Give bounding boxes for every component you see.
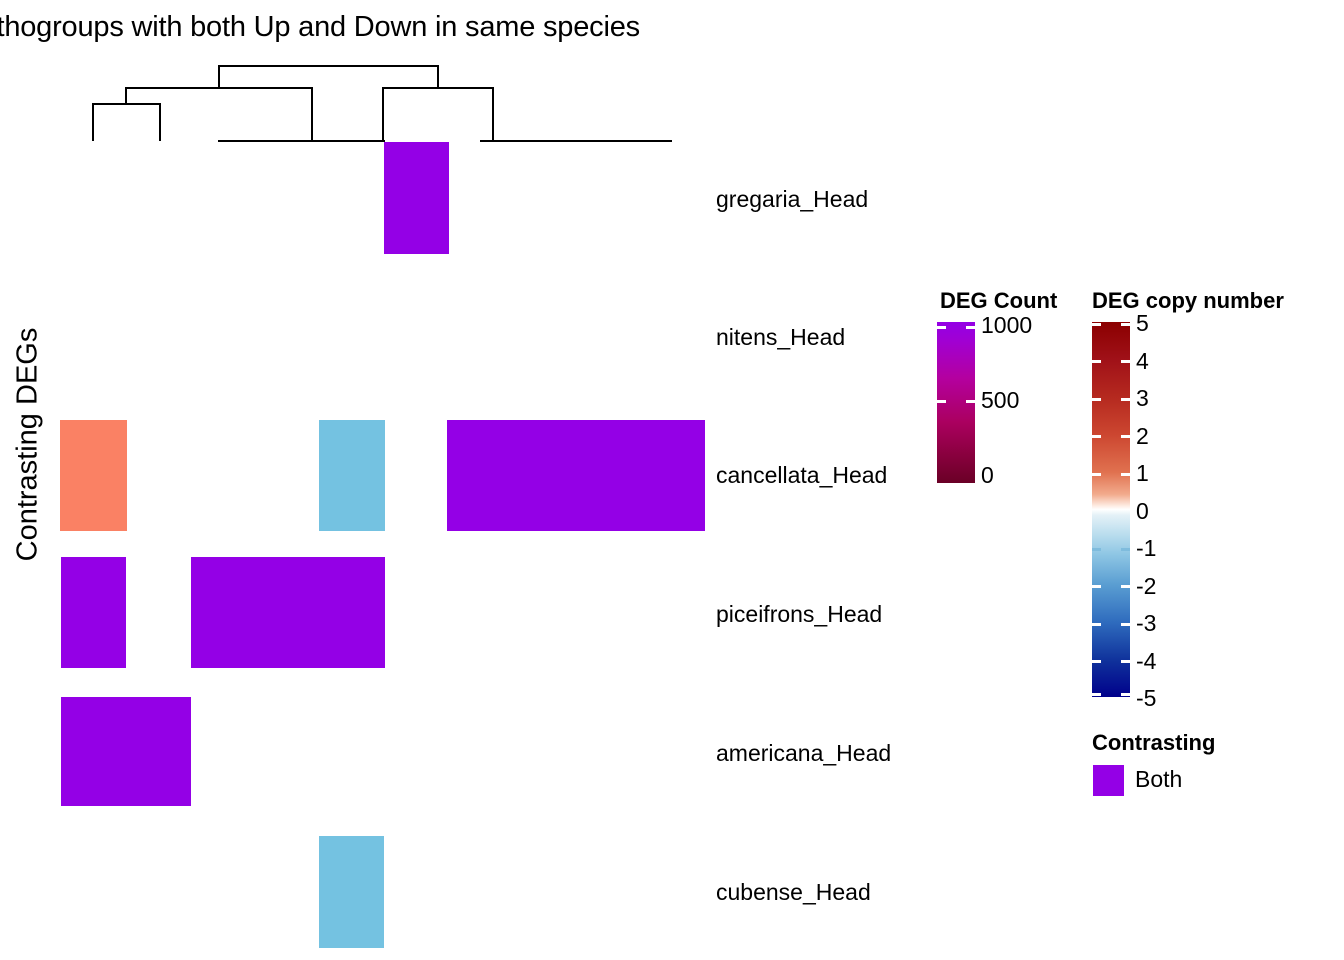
tick-mark	[1121, 693, 1130, 696]
tick-mark	[1121, 585, 1130, 588]
tick-mark	[1121, 473, 1130, 476]
row-label-piceifrons: piceifrons_Head	[716, 603, 882, 626]
heatmap-cell[interactable]	[61, 697, 191, 806]
tick-mark	[1121, 398, 1130, 401]
tick-mark	[1121, 360, 1130, 363]
heatmap-cell[interactable]	[319, 836, 384, 948]
copy-number-tick-label: -2	[1136, 575, 1156, 598]
copy-number-tick-label: -1	[1136, 537, 1156, 560]
legend-key-label-both: Both	[1135, 768, 1182, 791]
tick-mark	[1092, 323, 1101, 326]
deg-count-tick-label: 0	[981, 464, 994, 487]
copy-number-gradient-bar	[1092, 322, 1130, 697]
tick-mark	[1121, 323, 1130, 326]
tick-mark	[1092, 398, 1101, 401]
copy-number-tick-label: 2	[1136, 425, 1149, 448]
tick-mark	[1092, 473, 1101, 476]
row-label-americana: americana_Head	[716, 742, 891, 765]
tick-mark	[1092, 435, 1101, 438]
heatmap-cell[interactable]	[447, 420, 705, 531]
tick-mark	[1121, 548, 1130, 551]
heatmap-grid	[0, 0, 760, 960]
tick-mark	[937, 326, 946, 329]
heatmap-cell[interactable]	[60, 420, 127, 531]
tick-mark	[1092, 693, 1101, 696]
copy-number-tick-label: -5	[1136, 687, 1156, 710]
tick-mark	[1121, 435, 1130, 438]
row-label-gregaria: gregaria_Head	[716, 188, 868, 211]
tick-mark	[1092, 548, 1101, 551]
copy-number-tick-label: -3	[1136, 612, 1156, 635]
tick-mark	[1092, 623, 1101, 626]
row-label-cancellata: cancellata_Head	[716, 464, 887, 487]
copy-number-tick-label: 1	[1136, 462, 1149, 485]
tick-mark	[966, 400, 975, 403]
tick-mark	[1092, 360, 1101, 363]
tick-mark	[937, 400, 946, 403]
legend-title-contrasting: Contrasting	[1092, 730, 1215, 756]
heatmap-cell[interactable]	[384, 142, 449, 254]
deg-count-tick-label: 1000	[981, 314, 1032, 337]
row-label-nitens: nitens_Head	[716, 326, 845, 349]
row-label-cubense: cubense_Head	[716, 881, 871, 904]
copy-number-tick-label: -4	[1136, 650, 1156, 673]
tick-mark	[1121, 660, 1130, 663]
legend-title-copy-number: DEG copy number	[1092, 288, 1284, 314]
copy-number-tick-label: 5	[1136, 312, 1149, 335]
deg-count-gradient-bar	[937, 322, 975, 483]
heatmap-cell[interactable]	[319, 420, 385, 531]
copy-number-tick-label: 0	[1136, 500, 1149, 523]
tick-mark	[1121, 623, 1130, 626]
heatmap-cell[interactable]	[61, 557, 126, 668]
copy-number-tick-label: 4	[1136, 350, 1149, 373]
tick-mark	[1092, 585, 1101, 588]
copy-number-tick-label: 3	[1136, 387, 1149, 410]
legend-swatch-both[interactable]	[1093, 765, 1124, 796]
plot-canvas: rthogroups with both Up and Down in same…	[0, 0, 1344, 960]
legend-title-deg-count: DEG Count	[940, 288, 1057, 314]
deg-count-tick-label: 500	[981, 389, 1019, 412]
tick-mark	[966, 326, 975, 329]
tick-mark	[1092, 660, 1101, 663]
heatmap-cell[interactable]	[191, 557, 385, 668]
